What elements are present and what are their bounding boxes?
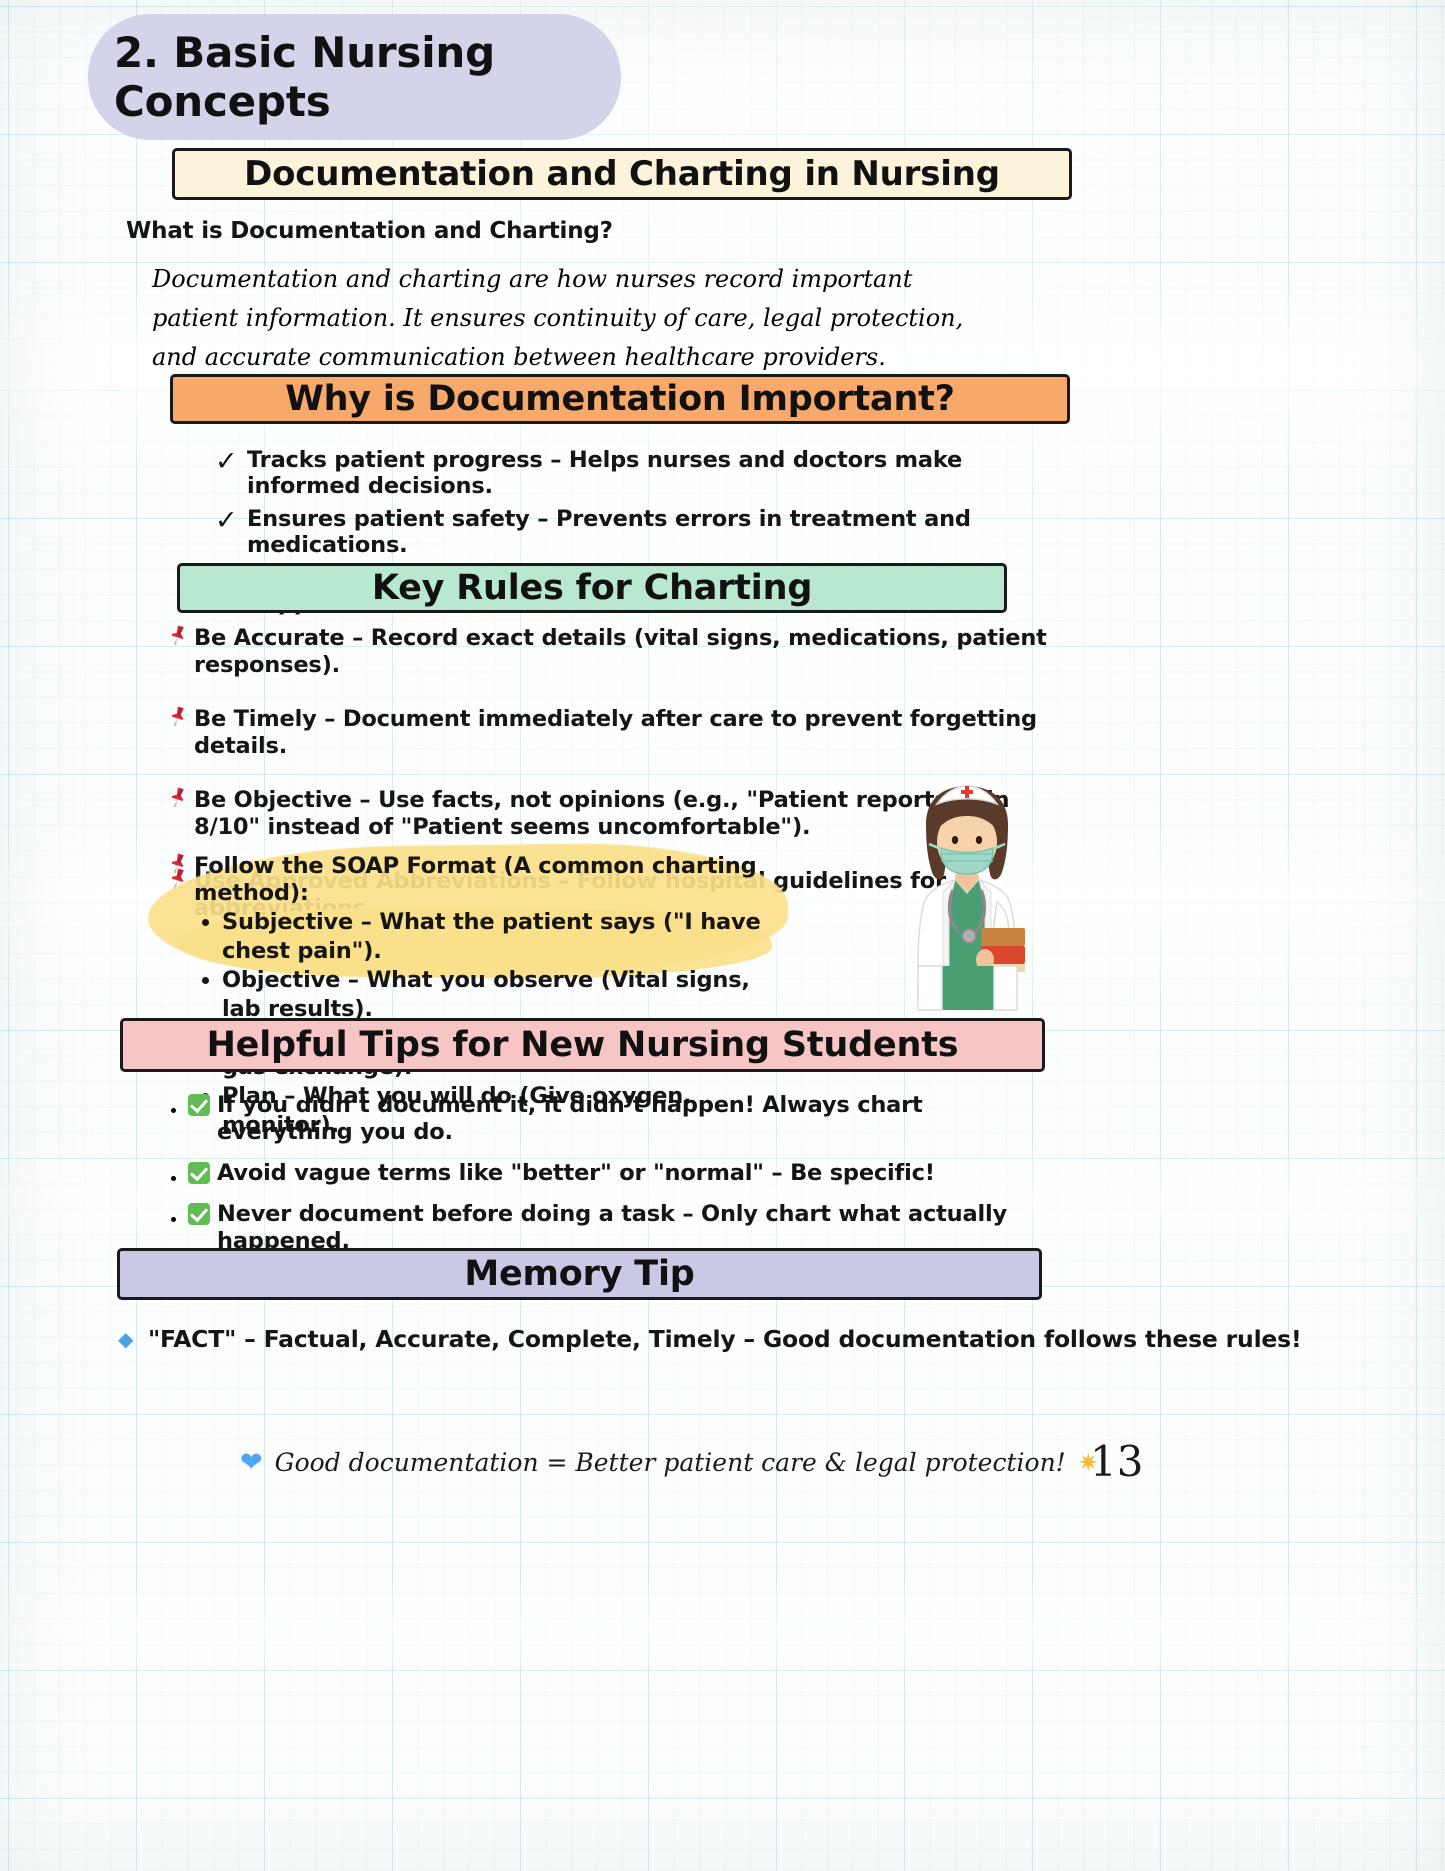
memory-tip-label: "FACT" – Factual, Accurate, Complete, Ti… xyxy=(148,1325,1301,1353)
memory-tip-row: ◆ "FACT" – Factual, Accurate, Complete, … xyxy=(118,1325,1301,1353)
list-item: Subjective – What the patient says ("I h… xyxy=(222,908,788,965)
section-banner-why-important: Why is Documentation Important? xyxy=(170,374,1070,424)
list-item: Be Accurate – Record exact details (vita… xyxy=(168,625,1048,680)
pushpin-icon xyxy=(168,706,194,734)
list-item: Be Timely – Document immediately after c… xyxy=(168,706,1048,761)
section-banner-key-rules: Key Rules for Charting xyxy=(177,563,1007,613)
section-banner-memory-tip: Memory Tip xyxy=(117,1248,1042,1300)
green-check-box-icon xyxy=(188,1094,210,1116)
list-item-label: Avoid vague terms like "better" or "norm… xyxy=(217,1160,935,1187)
list-item-label: Be Timely – Document immediately after c… xyxy=(194,706,1048,761)
list-item: If you didn’t document it, it didn’t hap… xyxy=(188,1092,1040,1146)
soap-heading-row: Follow the SOAP Format (A common chartin… xyxy=(168,853,788,907)
intro-question: What is Documentation and Charting? xyxy=(126,218,613,244)
tips-item-list: If you didn’t document it, it didn’t hap… xyxy=(160,1092,1040,1255)
section-banner-helpful-tips: Helpful Tips for New Nursing Students xyxy=(120,1018,1045,1072)
footer-note: ❤ Good documentation = Better patient ca… xyxy=(240,1448,1099,1477)
check-mark-icon: ✓ xyxy=(215,507,247,534)
check-mark-icon: ✓ xyxy=(215,448,247,475)
footer-text: Good documentation = Better patient care… xyxy=(275,1448,1066,1477)
section-banner-memory-tip-label: Memory Tip xyxy=(464,1257,694,1292)
blue-heart-icon: ❤ xyxy=(240,1449,263,1476)
pushpin-icon xyxy=(168,625,194,653)
list-item: ✓ Tracks patient progress – Helps nurses… xyxy=(215,448,1055,500)
list-item: Objective – What you observe (Vital sign… xyxy=(222,966,788,1023)
nurse-illustration xyxy=(885,778,1050,1016)
list-item-label: Ensures patient safety – Prevents errors… xyxy=(247,507,1055,559)
chapter-title: 2. Basic Nursing Concepts xyxy=(114,28,621,126)
chapter-title-pill: 2. Basic Nursing Concepts xyxy=(88,14,621,140)
section-banner-documentation-label: Documentation and Charting in Nursing xyxy=(244,157,1000,191)
section-banner-documentation: Documentation and Charting in Nursing xyxy=(172,148,1072,200)
green-check-box-icon xyxy=(188,1162,210,1184)
soap-heading-label: Follow the SOAP Format (A common chartin… xyxy=(194,853,788,907)
blue-diamond-icon: ◆ xyxy=(118,1325,148,1353)
list-item-label: Never document before doing a task – Onl… xyxy=(217,1201,1040,1255)
section-banner-helpful-tips-label: Helpful Tips for New Nursing Students xyxy=(207,1028,959,1063)
list-item-label: Be Accurate – Record exact details (vita… xyxy=(194,625,1048,680)
list-item-label: If you didn’t document it, it didn’t hap… xyxy=(217,1092,1040,1146)
list-item-label: Tracks patient progress – Helps nurses a… xyxy=(247,448,1055,500)
page-number: 13 xyxy=(1090,1437,1143,1486)
pushpin-icon xyxy=(168,787,194,815)
helpful-tips-list: If you didn’t document it, it didn’t hap… xyxy=(160,1092,1040,1269)
green-check-box-icon xyxy=(188,1203,210,1225)
section-banner-key-rules-label: Key Rules for Charting xyxy=(372,571,812,606)
list-item: Avoid vague terms like "better" or "norm… xyxy=(188,1160,1040,1187)
section-banner-why-important-label: Why is Documentation Important? xyxy=(285,382,955,417)
list-item: Never document before doing a task – Onl… xyxy=(188,1201,1040,1255)
pushpin-icon xyxy=(168,853,194,881)
intro-paragraph: Documentation and charting are how nurse… xyxy=(152,260,1002,377)
list-item: ✓ Ensures patient safety – Prevents erro… xyxy=(215,507,1055,559)
